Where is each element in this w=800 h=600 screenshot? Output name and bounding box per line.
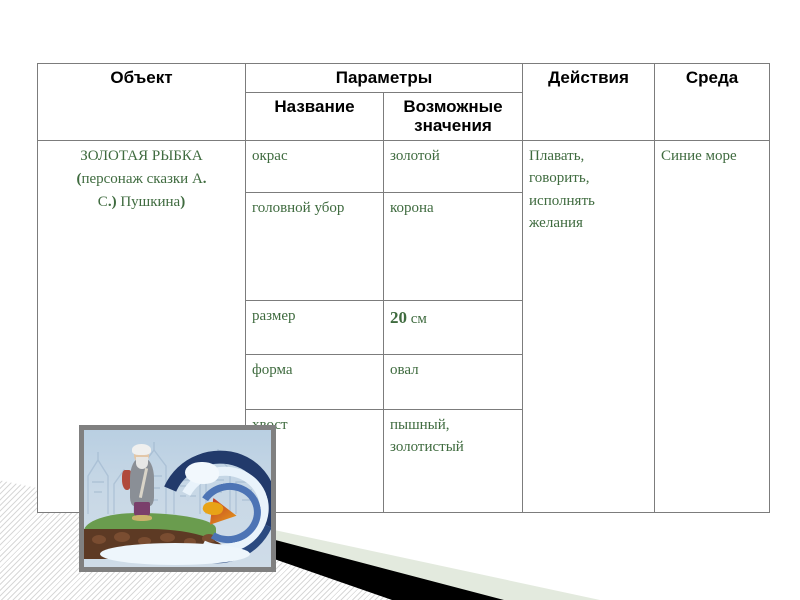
cell-param-name: головной убор <box>246 192 384 300</box>
table-row: ЗОЛОТАЯ РЫБКА (персонаж сказки А. С.) Пу… <box>38 140 770 192</box>
header-param-values: Возможные значения <box>384 92 523 140</box>
object-period-paren: .) <box>108 194 117 210</box>
cell-object-description: ЗОЛОТАЯ РЫБКА (персонаж сказки А. С.) Пу… <box>38 140 246 512</box>
table-header-row-1: Объект Параметры Действия Среда <box>38 64 770 93</box>
object-subtitle-part1: персонаж сказки А <box>81 171 202 187</box>
old-man-beard <box>136 457 148 469</box>
old-man-hair <box>132 444 151 455</box>
cell-param-name: окрас <box>246 140 384 192</box>
wave-crest-foam <box>185 462 219 484</box>
object-paren-close: ) <box>180 194 185 210</box>
header-actions: Действия <box>523 64 655 141</box>
param-value-number: 20 <box>390 308 407 327</box>
cell-actions: Плавать, говорить, исполнять желания <box>523 140 655 512</box>
fisherman-and-goldfish-illustration <box>79 425 276 572</box>
old-man-boots <box>132 515 152 521</box>
object-period-1: . <box>203 171 207 187</box>
old-man-legs <box>134 502 150 516</box>
header-parameters: Параметры <box>246 64 523 93</box>
object-title: ЗОЛОТАЯ РЫБКА <box>80 148 202 164</box>
header-environment: Среда <box>655 64 770 141</box>
slide-canvas: Объект Параметры Действия Среда Название… <box>0 0 800 600</box>
header-param-name: Название <box>246 92 384 140</box>
cell-param-value: корона <box>384 192 523 300</box>
illustration-canvas <box>84 430 271 567</box>
cell-param-value: золотой <box>384 140 523 192</box>
sea-foam-shape <box>100 543 250 565</box>
object-parameters-table: Объект Параметры Действия Среда Название… <box>37 63 770 513</box>
cell-param-value: пышный, золотистый <box>384 409 523 512</box>
object-parameters-table-wrapper: Объект Параметры Действия Среда Название… <box>37 63 769 513</box>
param-value-unit: см <box>407 311 427 327</box>
cell-param-name: форма <box>246 355 384 410</box>
object-subtitle-part3: Пушкина <box>117 194 181 210</box>
cell-environment: Синие море <box>655 140 770 512</box>
cell-param-value: 20 см <box>384 300 523 355</box>
cell-param-value: овал <box>384 355 523 410</box>
cell-param-name: размер <box>246 300 384 355</box>
header-object: Объект <box>38 64 246 141</box>
object-subtitle-part2: С <box>98 194 108 210</box>
